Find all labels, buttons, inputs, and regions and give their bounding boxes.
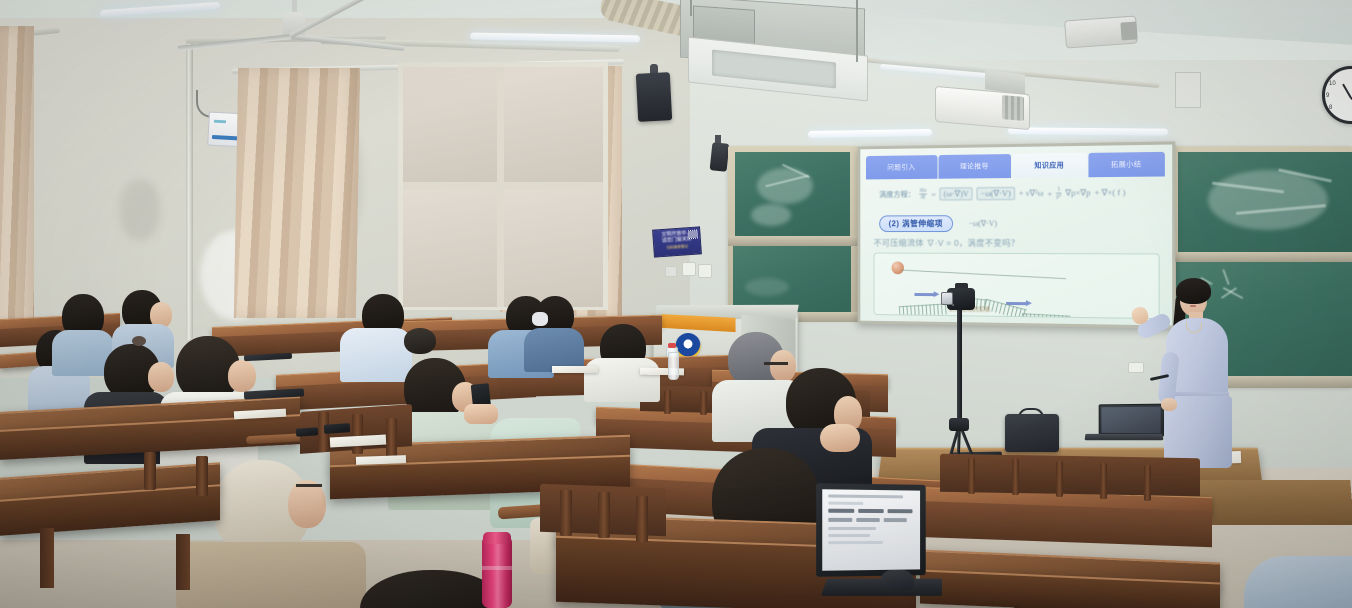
wall-outlet[interactable] <box>698 264 712 278</box>
bench-slat <box>1144 465 1151 501</box>
presenter-hair-top <box>1176 278 1211 304</box>
fluorescent-tube-light <box>1008 127 1168 135</box>
bench-slat <box>968 458 975 494</box>
slide-tab-bar: 问题引入 理论推导 知识应用 拓展小结 <box>866 152 1166 180</box>
slide-tab-2[interactable]: 理论推导 <box>938 154 1011 179</box>
smartphone[interactable] <box>296 427 319 437</box>
classroom-window <box>398 62 608 310</box>
projector-lens-icon <box>1120 21 1137 40</box>
bottle-cap <box>668 343 676 348</box>
bench-leg <box>40 528 54 588</box>
spring-coil-icon <box>1022 313 1071 319</box>
projector-lens-icon <box>1002 95 1024 121</box>
computer-mouse[interactable] <box>880 570 914 590</box>
laptop-keyboard[interactable] <box>1085 434 1164 440</box>
laptop-screen <box>1101 407 1160 433</box>
slide-tab-1[interactable]: 问题引入 <box>866 155 937 179</box>
chalk-ledge <box>728 236 858 246</box>
student-laptop-screen <box>822 489 920 570</box>
wall-switch[interactable] <box>665 266 677 277</box>
hair-bun <box>132 336 146 346</box>
window-mullion <box>403 182 603 190</box>
face-mask-icon <box>532 312 548 326</box>
slide-section-pill: (2) 涡管伸缩项 <box>879 215 952 232</box>
wall-stain <box>120 180 160 240</box>
slide-illustration: 挤压运动的实验 <box>874 253 1160 320</box>
vorticity-equation: 涡度方程： dω dt = (ω·∇)V −ω(∇·V) + ν∇²ω + 1 … <box>879 186 1162 202</box>
equation-term-2: −ω(∇·V) <box>977 187 1015 200</box>
lecture-slide: 问题引入 理论推导 知识应用 拓展小结 涡度方程： dω dt = (ω·∇)V… <box>860 145 1172 326</box>
camera-brand-label: ● <box>952 303 954 307</box>
wall-speaker <box>710 142 730 172</box>
smartphone[interactable] <box>324 423 351 434</box>
bench-slat <box>352 414 363 454</box>
slide-pill-equation: −ω(∇·V) <box>969 219 997 228</box>
ac-hanger-rod <box>856 0 858 62</box>
reference-line <box>901 270 1066 280</box>
clock-number: 8 <box>1329 105 1332 111</box>
bench-slat <box>1100 463 1107 499</box>
status-led <box>214 120 226 124</box>
presenter-mouth <box>1190 305 1196 307</box>
eyeglasses-icon <box>296 484 322 487</box>
bench-slat <box>700 391 707 415</box>
window-curtain[interactable] <box>234 68 360 318</box>
thermos-cap <box>483 532 511 544</box>
notebook[interactable] <box>552 366 598 373</box>
camera-bag[interactable] <box>1005 414 1059 452</box>
equation-term-4: ∇ρ×∇p <box>1065 188 1090 199</box>
audience-face-profile <box>228 360 256 392</box>
rolling-ball-icon <box>892 261 904 274</box>
clock-minute-hand <box>1342 84 1352 99</box>
audience-body-foreground <box>1244 556 1352 608</box>
audience-face-profile <box>148 362 174 392</box>
qr-code-icon <box>688 230 698 240</box>
audience-hand <box>820 424 860 452</box>
blackboard-left-upper[interactable] <box>735 152 850 240</box>
ac-hanger-rod <box>690 0 692 16</box>
flow-arrow-icon <box>914 293 935 296</box>
bench-slat <box>386 418 397 458</box>
slide-question-text: 不可压缩流体 ∇·V = 0，涡度不变吗？ <box>874 237 1020 249</box>
audience-body <box>340 328 412 382</box>
tripod-center-column <box>957 308 962 426</box>
wall-pipe <box>186 40 193 340</box>
window-pane <box>503 67 603 183</box>
window-pane <box>403 189 497 307</box>
window-curtain[interactable] <box>0 26 34 326</box>
classroom-photo: 10 9 8 <box>0 0 1352 608</box>
bench-slat <box>664 390 671 414</box>
audience-face-profile <box>770 350 796 382</box>
blackboard-left-lower[interactable] <box>733 244 851 314</box>
wall-notice-sign: 文明开放中， 请您门窗关好 扫码报修登记 <box>652 226 702 257</box>
presenter-lowered-hand <box>1161 398 1177 411</box>
equation-equals: = <box>931 189 936 199</box>
water-bottle[interactable] <box>668 352 679 380</box>
wall-outlet[interactable] <box>682 262 696 276</box>
window-pane <box>403 67 497 183</box>
bench-slat <box>144 452 156 490</box>
audience-body <box>176 542 366 608</box>
blackboard-right-upper[interactable] <box>1178 152 1352 258</box>
audience-shoulder <box>404 328 436 354</box>
equation-term-5: + ∇×( f ) <box>1095 187 1126 198</box>
equation-derivative: dω dt <box>919 188 928 201</box>
projection-screen[interactable]: 问题引入 理论推导 知识应用 拓展小结 涡度方程： dω dt = (ω·∇)V… <box>857 141 1175 328</box>
pink-thermos-bottle[interactable] <box>482 537 512 608</box>
audience-arm <box>464 404 498 424</box>
bench-slat <box>1056 461 1063 497</box>
equation-term-1: (ω·∇)V <box>940 188 973 201</box>
spring-coil-icon <box>899 303 948 317</box>
bench-slat <box>598 492 610 538</box>
bench-slat <box>196 456 208 496</box>
clock-number: 9 <box>1326 93 1329 99</box>
slide-tab-4[interactable]: 拓展小结 <box>1088 152 1165 177</box>
wall-mount-plate <box>1175 72 1201 108</box>
eyeglasses-icon <box>764 362 788 365</box>
clock-number: 10 <box>1329 81 1336 87</box>
bench-slat <box>1012 459 1019 495</box>
bench-backrest <box>940 454 1200 497</box>
equation-label: 涡度方程： <box>879 189 915 200</box>
bench-slat <box>560 490 572 536</box>
equation-term-4-coef: 1 ρ² <box>1056 187 1061 201</box>
audience-face-profile <box>288 480 326 528</box>
slide-tab-3-active[interactable]: 知识应用 <box>1012 153 1087 178</box>
audience-body <box>584 358 660 402</box>
window-pane <box>503 189 603 307</box>
equation-plus: + <box>1047 188 1052 198</box>
tripod-leg-hub <box>949 418 969 431</box>
thermos-band <box>482 566 512 570</box>
bench-leg <box>176 534 190 590</box>
chalk-ledge <box>1172 252 1352 262</box>
wall-outlet[interactable] <box>1128 362 1144 373</box>
bench-slat <box>636 496 648 542</box>
equation-term-3: + ν∇²ω <box>1019 188 1044 199</box>
wall-speaker <box>636 72 672 122</box>
